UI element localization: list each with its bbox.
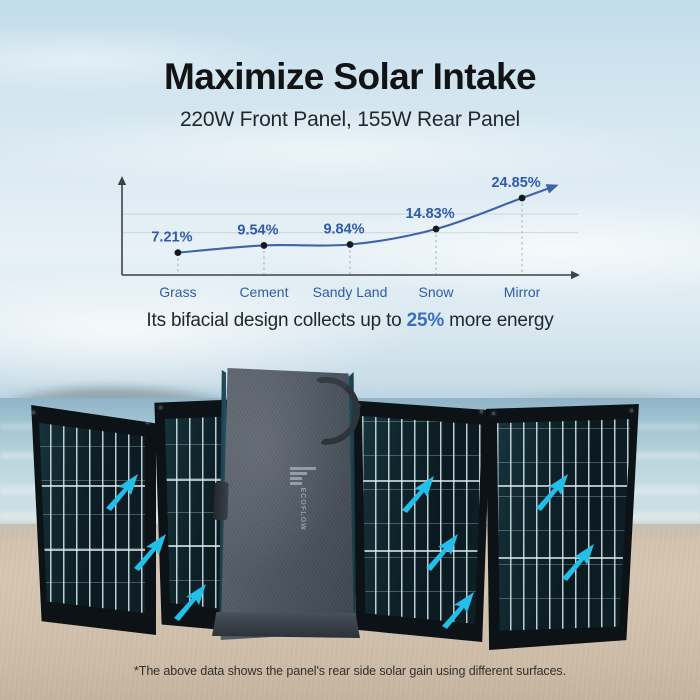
light-arrow-icon xyxy=(530,468,574,512)
caption-before: Its bifacial design collects up to xyxy=(146,310,406,331)
panel-wing-right-far xyxy=(486,404,642,650)
footnote: *The above data shows the panel's rear s… xyxy=(0,664,700,678)
light-arrow-icon xyxy=(436,586,480,630)
solar-cells xyxy=(37,423,145,617)
light-arrow-icon xyxy=(396,470,440,514)
x-tick-label: Mirror xyxy=(504,284,541,300)
page-subtitle: 220W Front Panel, 155W Rear Panel xyxy=(0,108,700,132)
data-point xyxy=(433,226,440,233)
bifacial-caption: Its bifacial design collects up to 25% m… xyxy=(0,310,700,332)
data-point-label: 9.54% xyxy=(237,222,278,238)
light-arrow-icon xyxy=(128,528,172,572)
light-arrow-icon xyxy=(100,468,144,512)
promo-graphic: ECOFLOW xyxy=(0,0,700,700)
caption-after: more energy xyxy=(444,310,554,331)
x-axis-arrowhead xyxy=(571,271,580,279)
logo-wordmark: ECOFLOW xyxy=(300,488,307,531)
data-point xyxy=(261,242,268,249)
data-point xyxy=(347,241,354,248)
data-point-label: 24.85% xyxy=(491,175,540,191)
panel-wing-left-far xyxy=(26,405,156,635)
ecoflow-logo: ECOFLOW xyxy=(273,467,333,537)
x-tick-label: Snow xyxy=(419,284,455,300)
kickstand-foot xyxy=(212,612,360,638)
data-point-label: 14.83% xyxy=(405,206,454,222)
x-tick-label: Sandy Land xyxy=(313,284,388,300)
page-title: Maximize Solar Intake xyxy=(0,56,700,98)
solar-gain-chart: 7.21%9.54%9.84%14.83%24.85%GrassCementSa… xyxy=(100,170,600,305)
data-point xyxy=(175,249,182,256)
logo-bars xyxy=(290,467,316,485)
data-point xyxy=(519,195,526,202)
x-tick-label: Cement xyxy=(239,284,288,300)
data-point-label: 9.84% xyxy=(323,221,364,237)
headline-section: Maximize Solar Intake 220W Front Panel, … xyxy=(0,0,700,350)
solar-cells xyxy=(497,419,631,633)
light-arrow-icon xyxy=(420,528,464,572)
chart-canvas: 7.21%9.54%9.84%14.83%24.85%GrassCementSa… xyxy=(100,170,600,305)
y-axis-arrowhead xyxy=(118,176,126,185)
data-point-label: 7.21% xyxy=(151,230,192,246)
trend-line-arrowhead xyxy=(546,180,561,193)
caption-highlight: 25% xyxy=(407,310,444,331)
light-arrow-icon xyxy=(168,578,212,622)
x-tick-label: Grass xyxy=(159,284,196,300)
trend-line xyxy=(178,187,552,253)
strap-buckle xyxy=(213,482,228,520)
light-arrow-icon xyxy=(556,538,600,582)
